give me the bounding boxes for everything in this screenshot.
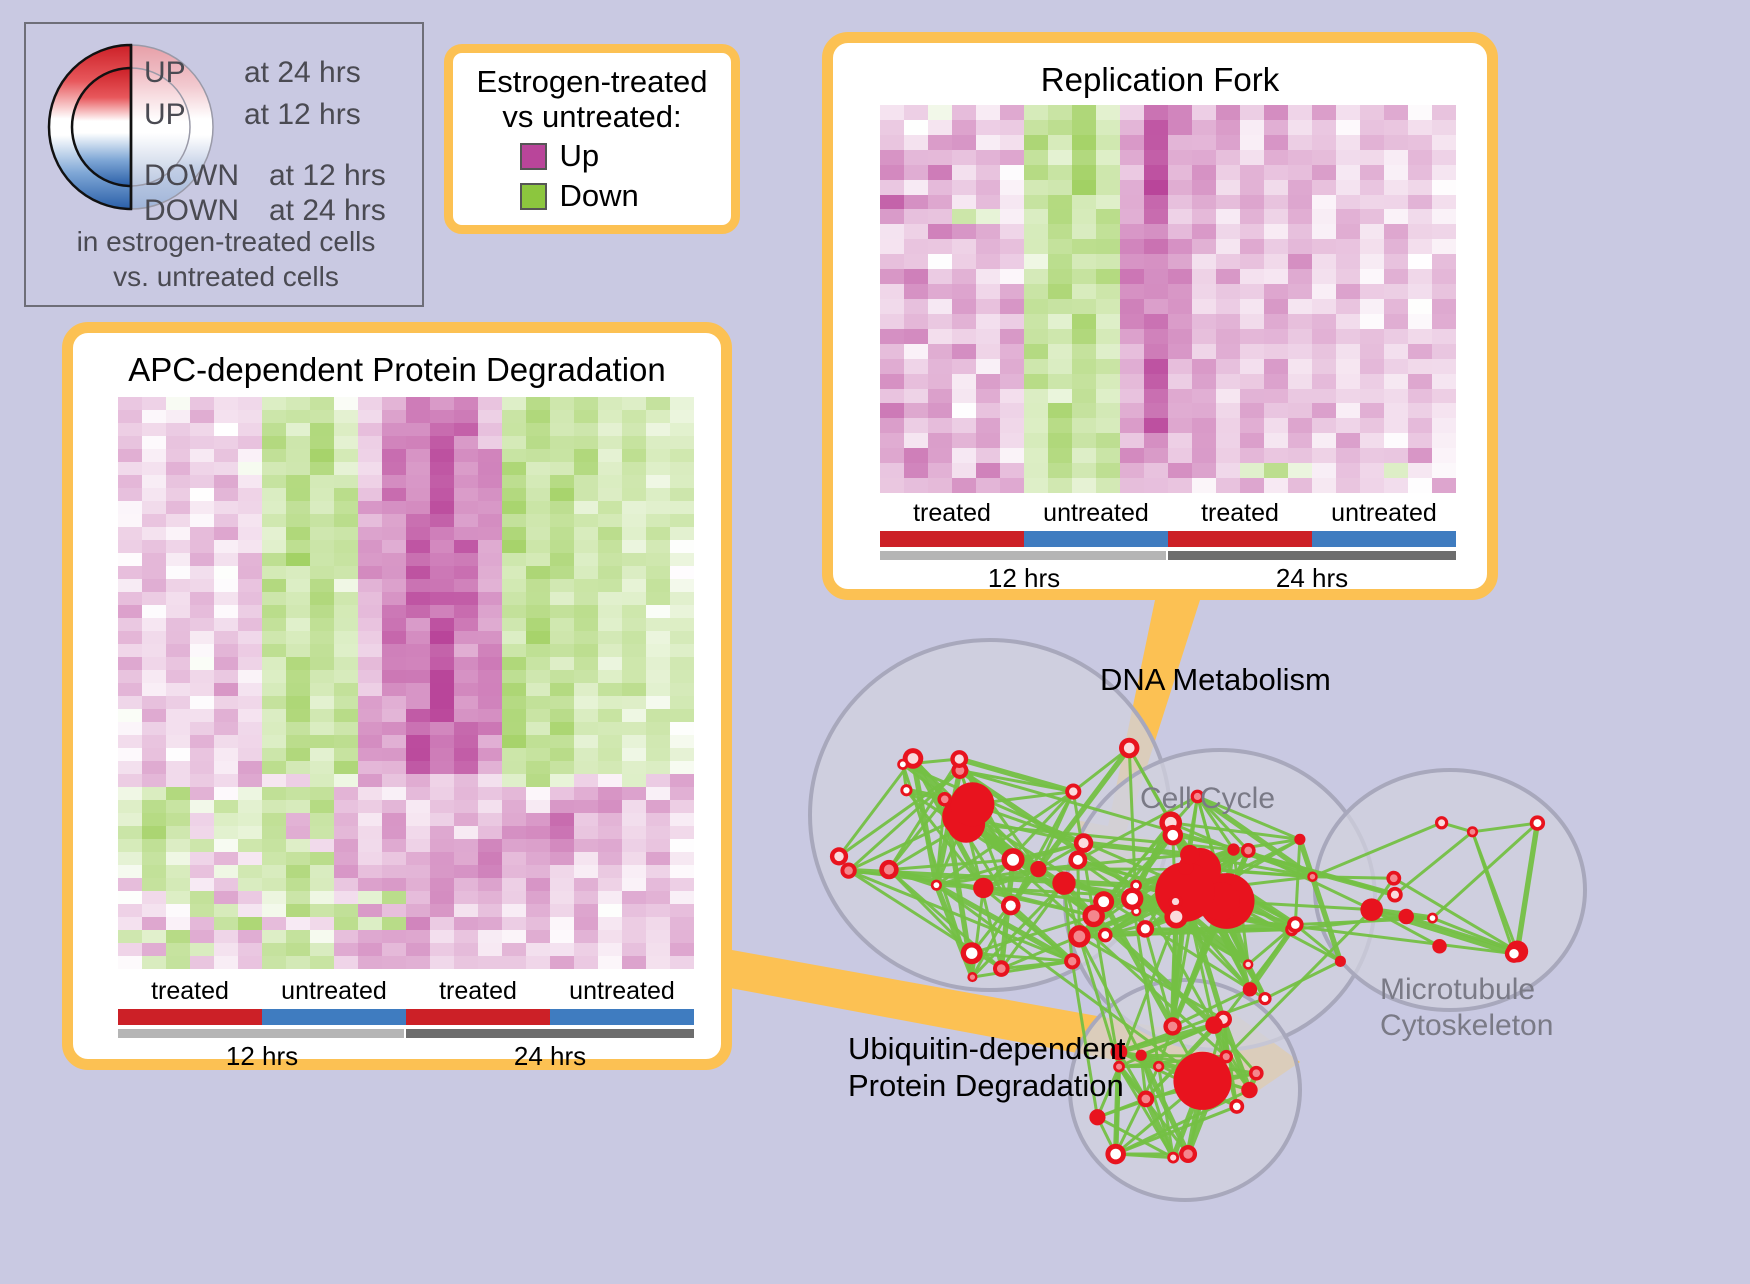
- network-node[interactable]: [1241, 843, 1256, 858]
- legend-item-down: Down: [453, 178, 731, 214]
- network-node[interactable]: [931, 880, 942, 891]
- time-label-12hrs: 12 hrs: [880, 563, 1168, 594]
- network-node[interactable]: [1119, 738, 1139, 758]
- time-label-24hrs: 24 hrs: [1168, 563, 1456, 594]
- network-node[interactable]: [1205, 1016, 1223, 1034]
- group-bar-treated-24: [1168, 531, 1312, 547]
- updown-title-line1: Estrogen-treated: [453, 65, 731, 100]
- key-time-1: at 12 hrs: [244, 98, 361, 132]
- network-node[interactable]: [1093, 891, 1114, 912]
- network-node[interactable]: [1065, 784, 1081, 800]
- network-node[interactable]: [1287, 916, 1304, 933]
- network-node[interactable]: [1167, 1152, 1179, 1164]
- time-bar-12hrs: [118, 1029, 404, 1038]
- network-node[interactable]: [1227, 843, 1239, 855]
- group-label-3: untreated: [550, 977, 694, 1006]
- group-label-0: treated: [880, 499, 1024, 528]
- network-node[interactable]: [1505, 945, 1523, 963]
- group-label-1: untreated: [1024, 499, 1168, 528]
- updown-legend-title: Estrogen-treated vs untreated:: [453, 53, 731, 134]
- time-label-12hrs: 12 hrs: [118, 1041, 406, 1072]
- group-label-2: treated: [1168, 499, 1312, 528]
- network-node[interactable]: [1163, 825, 1184, 846]
- network-node[interactable]: [1243, 959, 1253, 969]
- network-node[interactable]: [1068, 851, 1087, 870]
- network-node[interactable]: [1137, 920, 1155, 938]
- group-bar-untreated-24: [1312, 531, 1456, 547]
- network-node[interactable]: [900, 784, 912, 796]
- network-node[interactable]: [1386, 871, 1401, 886]
- network-node[interactable]: [1335, 956, 1346, 967]
- legend-item-up: Up: [453, 138, 731, 174]
- network-node[interactable]: [1163, 1017, 1181, 1035]
- network-node[interactable]: [1052, 872, 1075, 895]
- updown-title-line2: vs untreated:: [453, 100, 731, 135]
- network-node[interactable]: [1105, 1144, 1126, 1165]
- group-label-2: treated: [406, 977, 550, 1006]
- network-node[interactable]: [1435, 816, 1448, 829]
- network-node[interactable]: [1068, 925, 1090, 947]
- panel-apc-degradation: APC-dependent Protein Degradation treate…: [62, 322, 732, 1070]
- key-state-1: UP: [144, 98, 186, 132]
- cluster-label-dna-metabolism: DNA Metabolism: [1100, 662, 1331, 698]
- network-svg: [790, 600, 1750, 1279]
- group-bar-treated-12: [118, 1009, 262, 1025]
- network-node[interactable]: [1136, 1050, 1147, 1061]
- network-node[interactable]: [1030, 861, 1046, 877]
- legend-label-down: Down: [560, 178, 665, 214]
- group-label-0: treated: [118, 977, 262, 1006]
- network-node[interactable]: [950, 750, 968, 768]
- group-label-3: untreated: [1312, 499, 1456, 528]
- network-node[interactable]: [1387, 887, 1403, 903]
- key-state-3: DOWN: [144, 194, 239, 228]
- network-node[interactable]: [1220, 1050, 1233, 1063]
- network-node[interactable]: [879, 860, 898, 879]
- time-bar-24hrs: [406, 1029, 694, 1038]
- network-node[interactable]: [1360, 898, 1383, 921]
- up-swatch-icon: [520, 143, 547, 170]
- key-time-3: at 24 hrs: [269, 194, 386, 228]
- panel-title-replication-fork: Replication Fork: [833, 61, 1487, 99]
- group-bar-untreated-12: [1024, 531, 1168, 547]
- cluster-label-ubiquitin-degradation: Ubiquitin-dependent Protein Degradation: [848, 1030, 1126, 1104]
- color-key-footer-line1: in estrogen-treated cells: [26, 224, 426, 259]
- axis-apc-degradation: treated untreated treated untreated 12 h…: [118, 977, 694, 1067]
- network-diagram: DNA Metabolism Cell Cycle Microtubule Cy…: [790, 600, 1750, 1279]
- network-node[interactable]: [1001, 848, 1024, 871]
- key-state-0: UP: [144, 56, 186, 90]
- network-node[interactable]: [993, 960, 1010, 977]
- network-node[interactable]: [1249, 1066, 1264, 1081]
- time-bar-12hrs: [880, 551, 1166, 560]
- network-node[interactable]: [1530, 815, 1545, 830]
- network-node[interactable]: [1121, 888, 1143, 910]
- color-key-footer-line2: vs. untreated cells: [26, 259, 426, 294]
- panel-replication-fork: Replication Fork treated untreated treat…: [822, 32, 1498, 600]
- network-node[interactable]: [1001, 896, 1021, 916]
- network-node[interactable]: [1098, 928, 1113, 943]
- network-edge: [1312, 877, 1393, 879]
- color-key-box: UP at 24 hrs UP at 12 hrs DOWN at 12 hrs…: [24, 22, 424, 307]
- color-key-footer: in estrogen-treated cells vs. untreated …: [26, 224, 426, 294]
- updown-legend-box: Estrogen-treated vs untreated: Up Down: [444, 44, 740, 234]
- key-state-2: DOWN: [144, 159, 239, 193]
- time-bar-24hrs: [1168, 551, 1456, 560]
- network-node[interactable]: [1064, 953, 1080, 969]
- network-node[interactable]: [1153, 1061, 1164, 1072]
- network-node[interactable]: [1307, 871, 1317, 881]
- network-node[interactable]: [1258, 992, 1271, 1005]
- network-node[interactable]: [973, 878, 993, 898]
- group-bar-untreated-12: [262, 1009, 406, 1025]
- network-node[interactable]: [967, 972, 977, 982]
- axis-replication-fork: treated untreated treated untreated 12 h…: [880, 499, 1456, 589]
- network-node[interactable]: [897, 759, 908, 770]
- network-node[interactable]: [961, 942, 983, 964]
- down-swatch-icon: [520, 183, 547, 210]
- cluster-label-cell-cycle: Cell Cycle: [1140, 782, 1275, 816]
- group-label-1: untreated: [262, 977, 406, 1006]
- group-bar-treated-24: [406, 1009, 550, 1025]
- network-node[interactable]: [1427, 913, 1438, 924]
- legend-label-up: Up: [560, 138, 665, 174]
- panel-title-apc: APC-dependent Protein Degradation: [73, 351, 721, 389]
- network-node[interactable]: [1243, 982, 1257, 996]
- network-node[interactable]: [1398, 909, 1413, 924]
- key-time-0: at 24 hrs: [244, 56, 361, 90]
- network-node[interactable]: [1137, 1091, 1154, 1108]
- network-node[interactable]: [830, 847, 848, 865]
- network-node[interactable]: [1229, 1099, 1244, 1114]
- network-node[interactable]: [1432, 939, 1446, 953]
- network-node[interactable]: [1164, 905, 1188, 929]
- heatmap-replication-fork: [880, 105, 1456, 493]
- network-node[interactable]: [950, 782, 994, 826]
- network-node[interactable]: [1179, 1145, 1197, 1163]
- heatmap-apc-degradation: [118, 397, 694, 969]
- network-node[interactable]: [840, 862, 856, 878]
- network-node[interactable]: [1467, 826, 1478, 837]
- network-node[interactable]: [937, 792, 952, 807]
- network-edge: [1078, 860, 1080, 936]
- network-node[interactable]: [1180, 845, 1199, 864]
- cluster-label-microtubule-cytoskeleton: Microtubule Cytoskeleton: [1380, 972, 1553, 1044]
- network-node[interactable]: [1241, 1082, 1257, 1098]
- network-node[interactable]: [1294, 834, 1305, 845]
- network-node[interactable]: [1089, 1109, 1105, 1125]
- group-bar-untreated-24: [550, 1009, 694, 1025]
- network-node[interactable]: [1074, 833, 1094, 853]
- key-time-2: at 12 hrs: [269, 159, 386, 193]
- group-bar-treated-12: [880, 531, 1024, 547]
- time-label-24hrs: 24 hrs: [406, 1041, 694, 1072]
